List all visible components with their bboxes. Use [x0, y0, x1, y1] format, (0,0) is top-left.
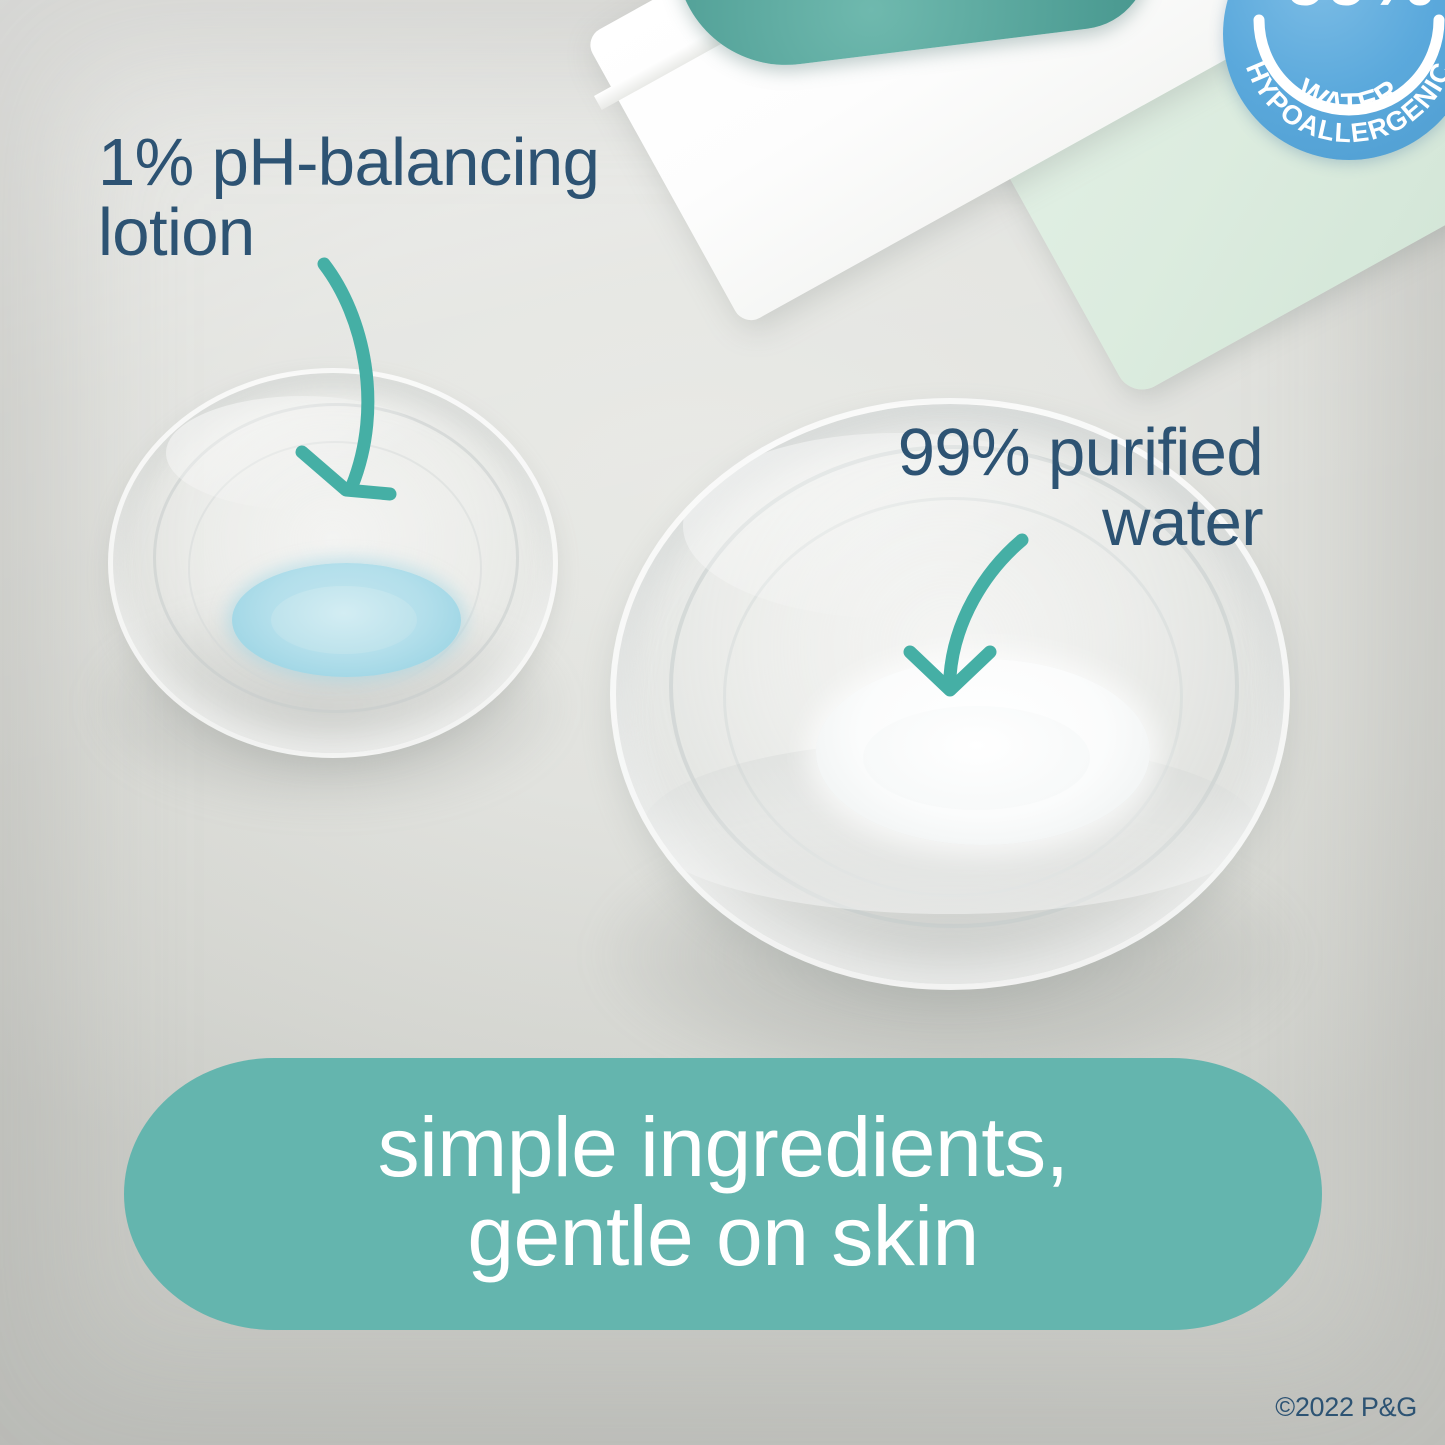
water-pool-center — [863, 706, 1090, 810]
lotion-pool-center — [271, 586, 416, 654]
product-scene: WATER HYPOALLERGENIC 99% — [560, 0, 1445, 400]
hypoallergenic-badge: WATER HYPOALLERGENIC 99% — [1223, 0, 1445, 160]
infographic-canvas: WATER HYPOALLERGENIC 99% 1% pH-balancing… — [0, 0, 1445, 1445]
annotation-arrow-water — [880, 530, 1080, 710]
tagline-text: simple ingredients, gentle on skin — [378, 1103, 1069, 1285]
tagline-banner: simple ingredients, gentle on skin — [124, 1058, 1322, 1330]
arrow-head-icon — [302, 452, 390, 494]
arrow-curve-icon — [324, 264, 368, 486]
copyright-notice: ©2022 P&G — [1275, 1392, 1417, 1423]
badge-percent: 99% — [1285, 0, 1434, 18]
annotation-arrow-lotion — [280, 246, 480, 536]
